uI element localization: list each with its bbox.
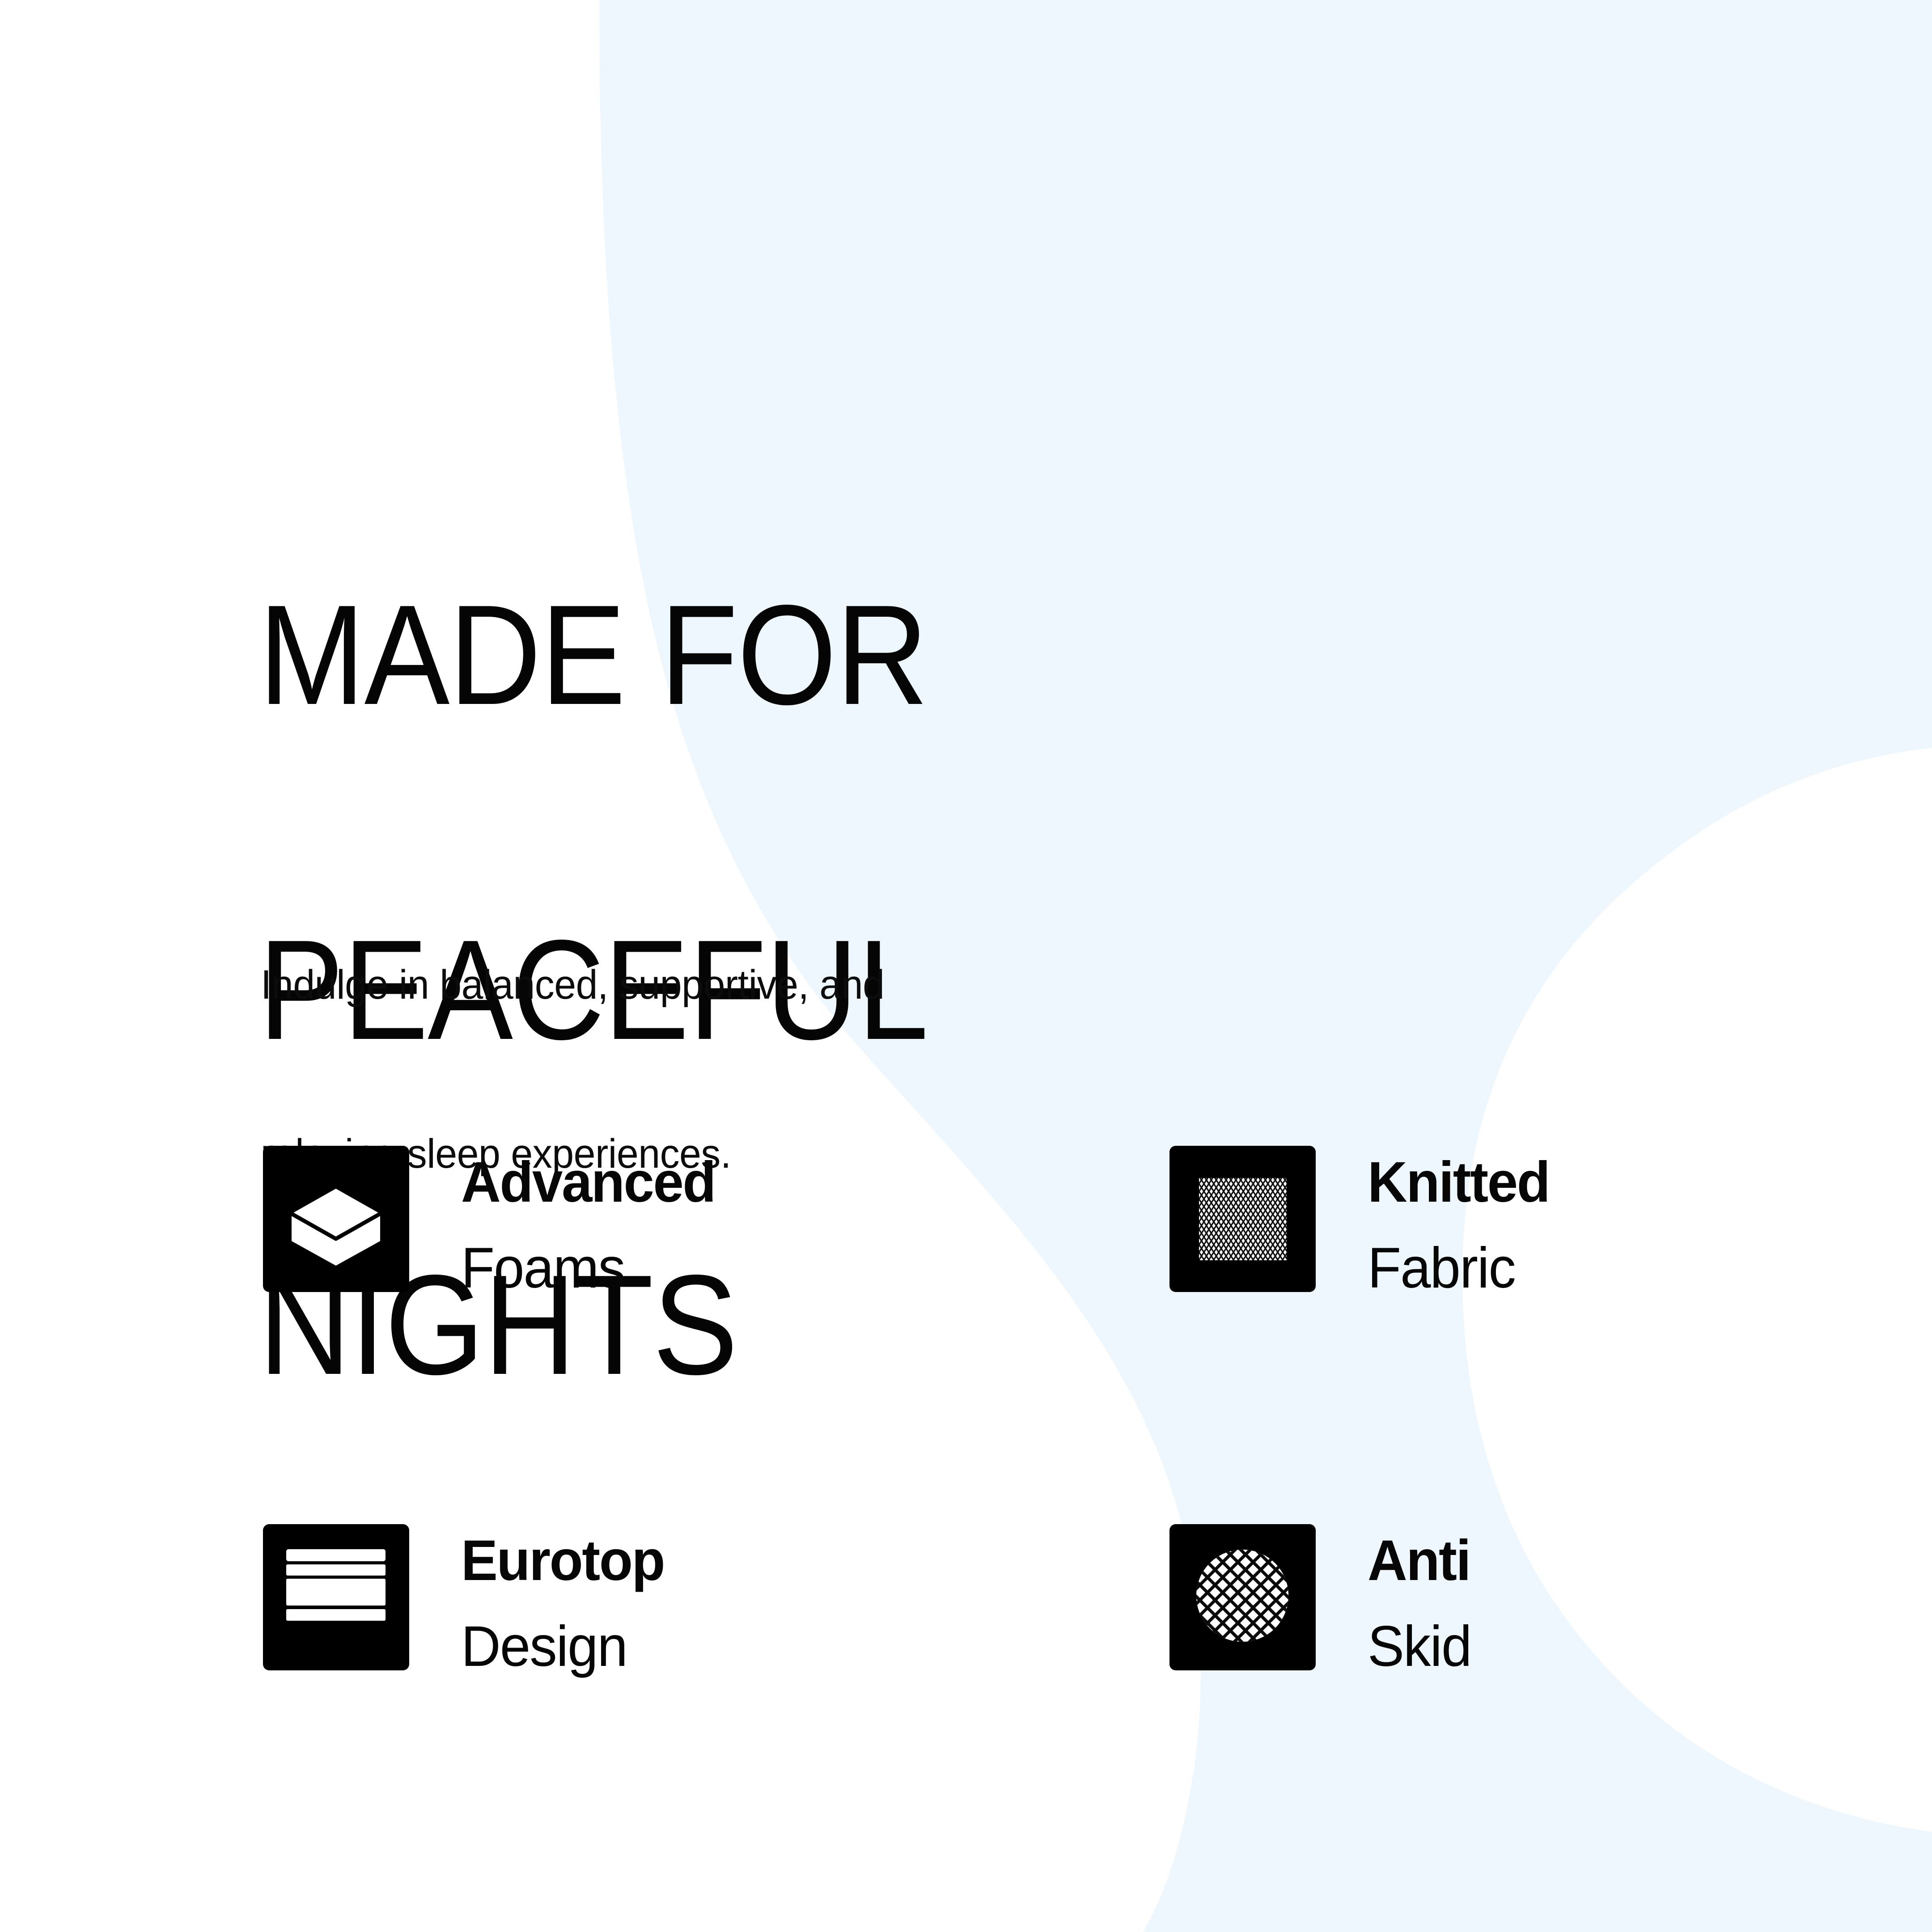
feature-subtitle: Design bbox=[461, 1618, 664, 1675]
feature-title: Advanced bbox=[461, 1154, 715, 1211]
feature-item-advanced-foams: Advanced Foams bbox=[263, 1146, 726, 1313]
feature-title: Eurotop bbox=[461, 1532, 664, 1589]
knit-mesh-icon bbox=[1169, 1146, 1316, 1292]
feature-label-group: Eurotop Design bbox=[461, 1516, 673, 1691]
feature-item-knitted-fabric: Knitted Fabric bbox=[1169, 1146, 1557, 1313]
feature-grid: Advanced Foams Kni bbox=[0, 0, 1932, 1932]
feature-item-eurotop-design: Eurotop Design bbox=[263, 1524, 673, 1691]
feature-label-group: Anti Skid bbox=[1368, 1516, 1475, 1691]
feature-subtitle: Fabric bbox=[1368, 1240, 1549, 1297]
foam-block-icon bbox=[263, 1146, 409, 1292]
crosshatch-circle-icon bbox=[1169, 1524, 1316, 1670]
feature-title: Anti bbox=[1368, 1532, 1471, 1589]
feature-label-group: Knitted Fabric bbox=[1368, 1138, 1557, 1313]
poster-canvas: MADE FOR PEACEFUL NIGHTS Indulge in bala… bbox=[0, 0, 1932, 1932]
feature-subtitle: Foams bbox=[461, 1240, 715, 1297]
feature-title: Knitted bbox=[1368, 1154, 1549, 1211]
feature-item-anti-skid: Anti Skid bbox=[1169, 1524, 1475, 1691]
feature-label-group: Advanced Foams bbox=[461, 1138, 726, 1313]
layered-mattress-icon bbox=[263, 1524, 409, 1670]
feature-subtitle: Skid bbox=[1368, 1618, 1471, 1675]
